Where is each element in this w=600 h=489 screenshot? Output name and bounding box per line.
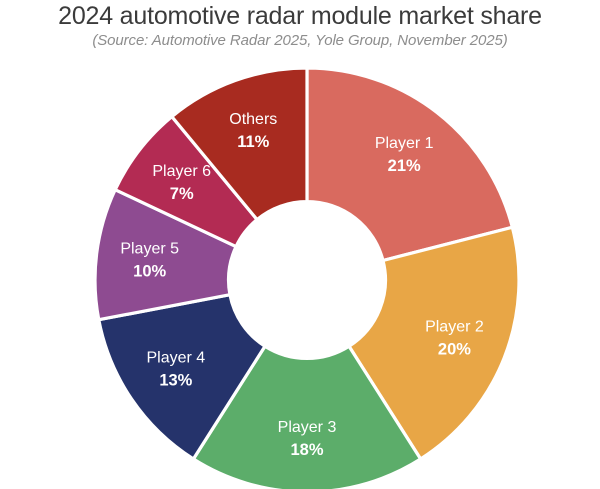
donut-svg: Player 121%Player 220%Player 318%Player … xyxy=(0,60,600,489)
slice-label-others: Others xyxy=(229,111,277,128)
chart-subtitle: (Source: Automotive Radar 2025, Yole Gro… xyxy=(0,32,600,49)
slice-label-player-3: Player 3 xyxy=(278,419,337,436)
slice-value-player-4: 13% xyxy=(159,371,192,389)
slice-value-player-5: 10% xyxy=(133,262,166,280)
donut-plot-area: Player 121%Player 220%Player 318%Player … xyxy=(0,60,600,489)
chart-title: 2024 automotive radar module market shar… xyxy=(0,2,600,31)
slice-value-player-3: 18% xyxy=(290,441,323,459)
slice-label-player-4: Player 4 xyxy=(146,349,205,366)
slice-label-player-5: Player 5 xyxy=(120,240,179,257)
slice-value-player-2: 20% xyxy=(438,341,471,359)
slice-value-player-6: 7% xyxy=(170,185,194,203)
slice-label-player-2: Player 2 xyxy=(425,319,484,336)
slice-label-player-6: Player 6 xyxy=(152,163,211,180)
slice-label-player-1: Player 1 xyxy=(375,135,434,152)
donut-chart-figure: 2024 automotive radar module market shar… xyxy=(0,0,600,489)
slice-value-others: 11% xyxy=(237,133,269,151)
slice-value-player-1: 21% xyxy=(388,157,421,175)
